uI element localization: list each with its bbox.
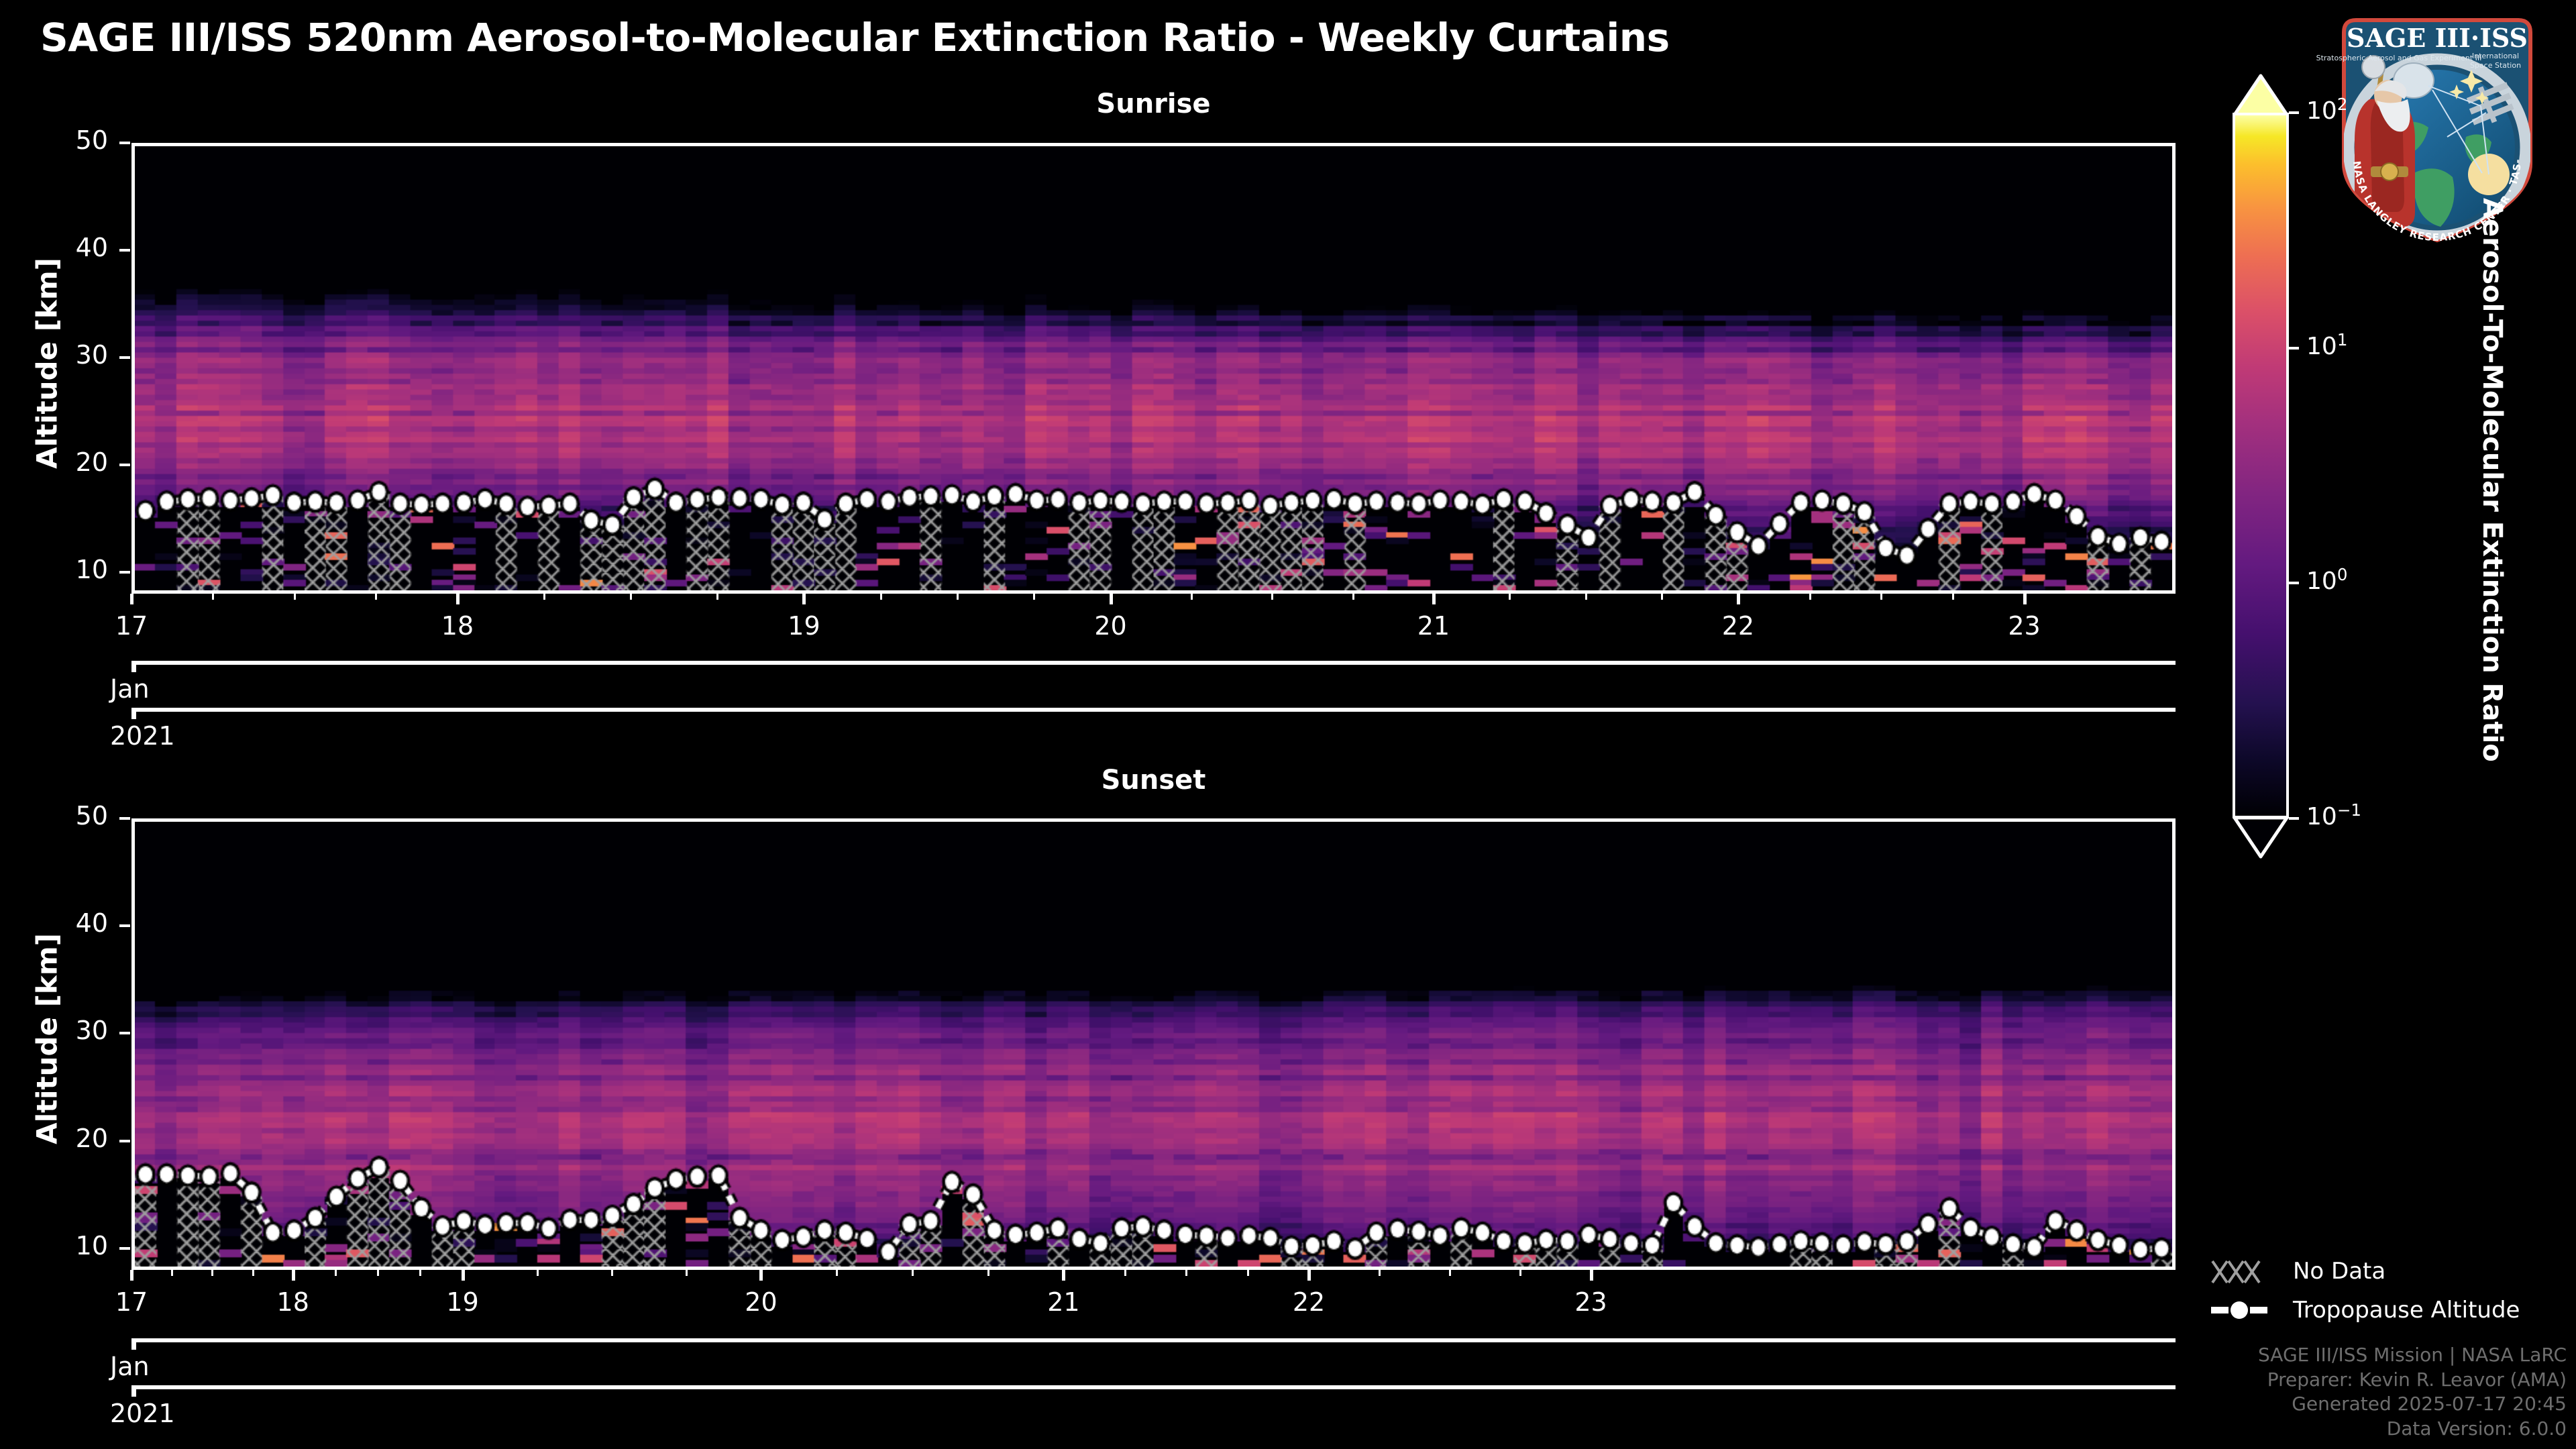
- colorbar-tick-label-1: 101: [2306, 330, 2347, 360]
- colorbar-tick-label-3: 10−1: [2306, 800, 2361, 830]
- date-axis-rule-1-1: [131, 1385, 2176, 1389]
- x-tick-label-0-6: 23: [1978, 611, 2072, 641]
- colorbar-arrow-up: [2233, 74, 2289, 117]
- y-tick-mark-0-3: [119, 249, 130, 252]
- x-tick-mark-1-2: [462, 1270, 465, 1281]
- x-minor-mark-1-2-3: [686, 1270, 688, 1276]
- date-axis-rule-tick-0-0: [131, 661, 136, 672]
- panel-title-sunrise: Sunrise: [131, 89, 2176, 119]
- x-tick-label-1-0: 17: [85, 1287, 178, 1317]
- heatmap-panel-sunrise: [131, 143, 2176, 594]
- y-tick-label-1-0: 10: [38, 1231, 108, 1260]
- x-minor-mark-1-4-1: [1124, 1270, 1126, 1276]
- x-tick-mark-0-6: [2023, 594, 2027, 604]
- x-minor-mark-1-5-2: [1449, 1270, 1451, 1276]
- x-minor-mark-1-5-1: [1379, 1270, 1381, 1276]
- y-tick-mark-1-0: [119, 1247, 130, 1250]
- legend-item-tropopause: Tropopause Altitude: [2211, 1291, 2520, 1330]
- logo-title: SAGE III·ISS: [2347, 23, 2528, 53]
- x-minor-mark-1-3-2: [912, 1270, 914, 1276]
- x-tick-label-0-2: 19: [757, 611, 851, 641]
- colorbar-tick-mark-3: [2289, 817, 2299, 820]
- x-tick-mark-0-2: [802, 594, 806, 604]
- colorbar-label: Aerosol-To-Molecular Extinction Ratio: [2477, 198, 2508, 855]
- x-minor-mark-0-3-3: [1352, 594, 1354, 600]
- y-tick-label-1-2: 30: [38, 1016, 108, 1045]
- x-tick-label-1-6: 23: [1544, 1287, 1638, 1317]
- x-minor-mark-0-1-3: [716, 594, 718, 600]
- legend-label-tropopause: Tropopause Altitude: [2293, 1297, 2520, 1324]
- x-minor-mark-1-0-3: [252, 1270, 254, 1276]
- logo-subtitle-right-2: Space Station: [2470, 61, 2521, 70]
- page-title: SAGE III/ISS 520nm Aerosol-to-Molecular …: [40, 15, 1670, 60]
- footer-line-mission: SAGE III/ISS Mission | NASA LaRC: [2258, 1343, 2567, 1367]
- footer-credits: SAGE III/ISS Mission | NASA LaRC Prepare…: [2258, 1343, 2567, 1441]
- colorbar-tick-mark-0: [2289, 111, 2299, 114]
- x-tick-mark-0-1: [456, 594, 460, 604]
- date-axis-rule-1-0: [131, 1338, 2176, 1342]
- x-tick-mark-0-5: [1737, 594, 1740, 604]
- x-tick-label-1-3: 20: [714, 1287, 808, 1317]
- sage-iii-iss-logo: SAGE III·ISS Stratospheric Aerosol and G…: [2313, 5, 2561, 254]
- x-tick-mark-1-5: [1307, 1270, 1311, 1281]
- footer-line-version: Data Version: 6.0.0: [2258, 1417, 2567, 1441]
- colorbar-tick-label-2: 100: [2306, 565, 2347, 595]
- x-minor-mark-1-1-3: [419, 1270, 421, 1276]
- date-axis-rule-0-1: [131, 708, 2176, 712]
- x-minor-mark-1-4-2: [1185, 1270, 1187, 1276]
- x-minor-mark-1-0-1: [171, 1270, 173, 1276]
- date-axis-rule-tick-1-1: [131, 1385, 136, 1397]
- x-minor-mark-0-5-2: [1880, 594, 1882, 600]
- x-tick-mark-1-1: [292, 1270, 295, 1281]
- x-tick-label-0-4: 21: [1387, 611, 1481, 641]
- y-tick-mark-1-1: [119, 1140, 130, 1142]
- legend: No Data Tropopause Altitude: [2211, 1252, 2520, 1330]
- x-minor-mark-1-0-2: [211, 1270, 213, 1276]
- y-tick-label-0-1: 20: [38, 447, 108, 477]
- x-minor-mark-1-2-1: [537, 1270, 539, 1276]
- y-tick-label-0-4: 50: [38, 125, 108, 155]
- x-minor-mark-0-4-1: [1509, 594, 1511, 600]
- y-tick-label-1-3: 40: [38, 908, 108, 938]
- x-minor-mark-0-3-2: [1271, 594, 1273, 600]
- x-minor-mark-0-0-1: [212, 594, 214, 600]
- x-tick-mark-1-0: [130, 1270, 133, 1281]
- x-minor-mark-0-0-3: [375, 594, 377, 600]
- x-minor-mark-1-2-2: [611, 1270, 613, 1276]
- date-axis-label-0-1: 2021: [110, 721, 175, 751]
- x-minor-mark-0-4-2: [1585, 594, 1587, 600]
- y-tick-mark-1-3: [119, 924, 130, 927]
- date-axis-label-1-0: Jan: [110, 1352, 150, 1381]
- x-tick-label-0-1: 18: [411, 611, 504, 641]
- panel-title-sunset: Sunset: [131, 765, 2176, 796]
- x-tick-label-1-4: 21: [1016, 1287, 1110, 1317]
- x-minor-mark-1-3-1: [836, 1270, 838, 1276]
- x-tick-mark-1-6: [1590, 1270, 1593, 1281]
- y-tick-mark-0-1: [119, 464, 130, 466]
- x-minor-mark-0-1-2: [630, 594, 632, 600]
- x-tick-label-0-0: 17: [85, 611, 178, 641]
- x-minor-mark-0-0-2: [294, 594, 296, 600]
- date-axis-label-1-1: 2021: [110, 1399, 175, 1428]
- colorbar-tick-mark-1: [2289, 347, 2299, 350]
- y-tick-label-1-4: 50: [38, 801, 108, 830]
- x-tick-label-1-2: 19: [416, 1287, 510, 1317]
- legend-label-no-data: No Data: [2293, 1258, 2385, 1285]
- tropopause-marker-icon: [2211, 1295, 2275, 1326]
- y-tick-mark-1-2: [119, 1032, 130, 1034]
- heatmap-canvas-sunrise: [135, 146, 2172, 590]
- colorbar-arrow-down: [2233, 816, 2289, 859]
- date-axis-rule-tick-1-0: [131, 1338, 136, 1350]
- colorbar-tick-mark-2: [2289, 582, 2299, 584]
- y-tick-mark-0-0: [119, 571, 130, 574]
- x-minor-mark-0-2-1: [880, 594, 882, 600]
- footer-line-generated: Generated 2025-07-17 20:45: [2258, 1392, 2567, 1416]
- footer-line-preparer: Preparer: Kevin R. Leavor (AMA): [2258, 1368, 2567, 1392]
- y-tick-label-1-1: 20: [38, 1124, 108, 1153]
- colorbar-gradient: [2233, 113, 2289, 818]
- x-minor-mark-1-3-3: [987, 1270, 989, 1276]
- y-tick-mark-1-4: [119, 817, 130, 820]
- y-tick-label-0-0: 10: [38, 555, 108, 584]
- x-tick-mark-1-3: [759, 1270, 763, 1281]
- x-tick-label-0-5: 22: [1691, 611, 1785, 641]
- x-tick-mark-0-4: [1432, 594, 1436, 604]
- heatmap-panel-sunset: [131, 818, 2176, 1270]
- x-minor-mark-1-1-1: [335, 1270, 337, 1276]
- y-tick-mark-0-2: [119, 356, 130, 359]
- x-minor-mark-1-1-2: [377, 1270, 379, 1276]
- legend-item-no-data: No Data: [2211, 1252, 2520, 1291]
- logo-subtitle-right-1: International: [2472, 52, 2519, 60]
- x-minor-mark-0-1-1: [543, 594, 545, 600]
- x-tick-label-0-3: 20: [1064, 611, 1158, 641]
- x-tick-label-1-1: 18: [246, 1287, 340, 1317]
- x-minor-mark-0-2-2: [957, 594, 959, 600]
- no-data-hatch-icon: [2211, 1256, 2275, 1287]
- x-minor-mark-0-4-3: [1661, 594, 1663, 600]
- x-tick-mark-1-4: [1062, 1270, 1065, 1281]
- y-tick-mark-0-4: [119, 142, 130, 144]
- x-tick-label-1-5: 22: [1262, 1287, 1356, 1317]
- date-axis-rule-tick-0-1: [131, 708, 136, 719]
- x-tick-mark-0-3: [1110, 594, 1113, 604]
- y-tick-label-0-3: 40: [38, 233, 108, 262]
- y-tick-label-0-2: 30: [38, 340, 108, 370]
- x-minor-mark-1-4-3: [1247, 1270, 1249, 1276]
- date-axis-label-0-0: Jan: [110, 674, 150, 704]
- date-axis-rule-0-0: [131, 661, 2176, 665]
- colorbar-tick-label-0: 102: [2306, 95, 2347, 125]
- logo-subtitle-left: Stratospheric Aerosol and Gas Experiment…: [2316, 54, 2482, 62]
- x-minor-mark-0-3-1: [1191, 594, 1193, 600]
- heatmap-canvas-sunset: [135, 822, 2172, 1267]
- x-minor-mark-1-5-3: [1519, 1270, 1521, 1276]
- x-minor-mark-0-5-1: [1809, 594, 1811, 600]
- x-minor-mark-0-2-3: [1033, 594, 1035, 600]
- x-tick-mark-0-0: [130, 594, 133, 604]
- x-minor-mark-0-5-3: [1952, 594, 1954, 600]
